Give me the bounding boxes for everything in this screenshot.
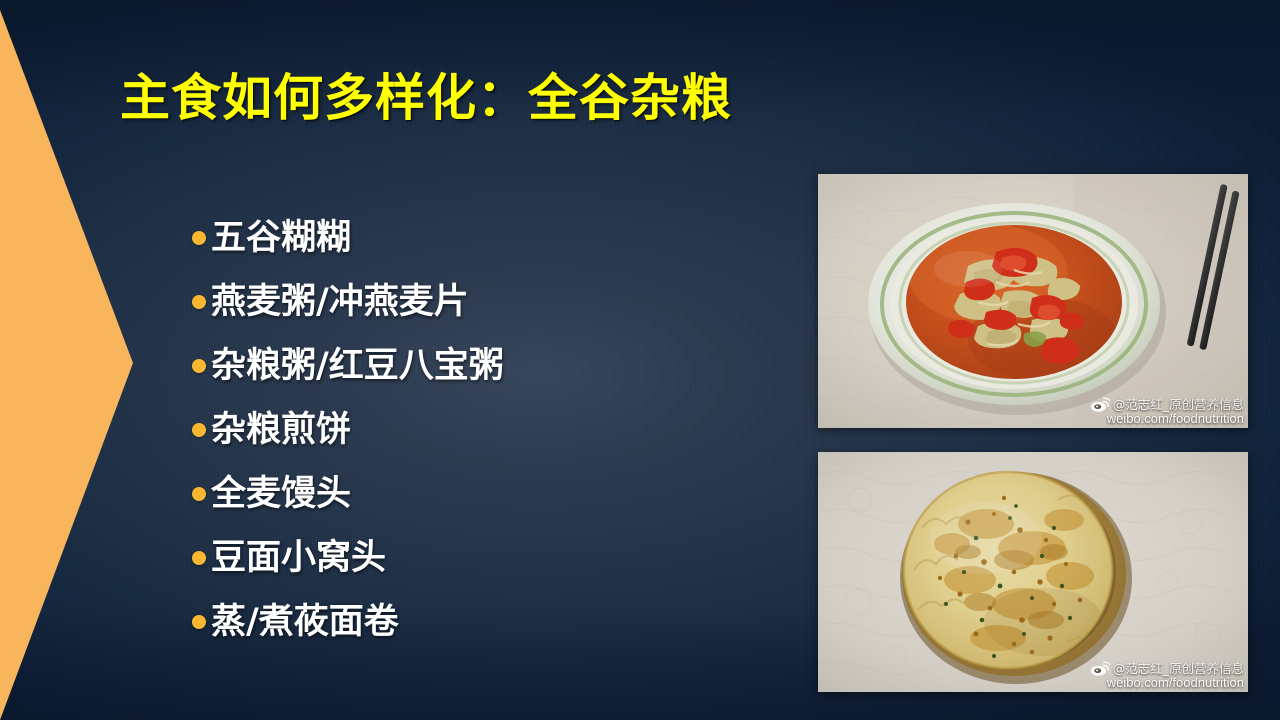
list-item: 杂粮粥/红豆八宝粥	[192, 334, 772, 398]
photo-tomato-soup: @范志红_原创营养信息 weibo.com/foodnutrition	[818, 174, 1248, 428]
list-item: 蒸/煮莜面卷	[192, 590, 772, 654]
bullet-dot-icon	[192, 423, 206, 437]
bullet-list: 五谷糊糊 燕麦粥/冲燕麦片 杂粮粥/红豆八宝粥 杂粮煎饼 全麦馒头 豆面小窝头 …	[192, 206, 772, 654]
list-item-label: 全麦馒头	[211, 477, 351, 512]
list-item: 燕麦粥/冲燕麦片	[192, 270, 772, 334]
photo-grain-pancake: @范志红_原创营养信息 weibo.com/foodnutrition	[818, 452, 1248, 692]
bullet-dot-icon	[192, 615, 206, 629]
bullet-dot-icon	[192, 359, 206, 373]
list-item-label: 杂粮粥/红豆八宝粥	[211, 349, 504, 384]
page-title: 主食如何多样化：全谷杂粮	[120, 58, 732, 130]
list-item-label: 豆面小窝头	[211, 541, 386, 576]
bullet-dot-icon	[192, 551, 206, 565]
bullet-dot-icon	[192, 487, 206, 501]
list-item-label: 杂粮煎饼	[211, 413, 351, 448]
list-item-label: 燕麦粥/冲燕麦片	[211, 285, 469, 320]
list-item: 豆面小窝头	[192, 526, 772, 590]
slide-canvas: 主食如何多样化：全谷杂粮 五谷糊糊 燕麦粥/冲燕麦片 杂粮粥/红豆八宝粥 杂粮煎…	[0, 0, 1280, 720]
photo-grain-pancake-image	[818, 452, 1248, 692]
list-item: 五谷糊糊	[192, 206, 772, 270]
bullet-dot-icon	[192, 231, 206, 245]
list-item: 杂粮煎饼	[192, 398, 772, 462]
bullet-dot-icon	[192, 295, 206, 309]
list-item: 全麦馒头	[192, 462, 772, 526]
list-item-label: 五谷糊糊	[211, 221, 351, 256]
photo-tomato-soup-image	[818, 174, 1248, 428]
list-item-label: 蒸/煮莜面卷	[211, 605, 399, 640]
